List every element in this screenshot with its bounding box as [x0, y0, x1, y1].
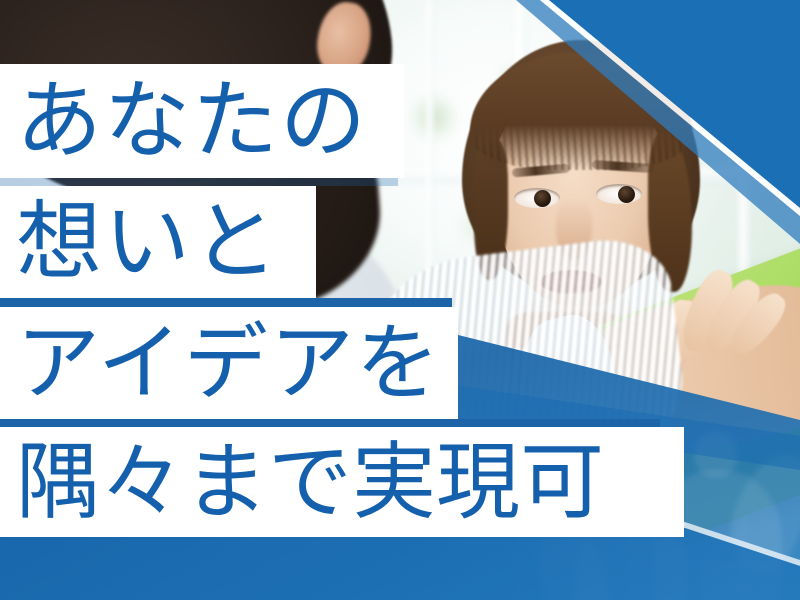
headline-box-4: 隅々まで実現可 [0, 427, 684, 537]
headline-line-2: 想いと [0, 199, 280, 285]
facing-man-eye-right [596, 184, 642, 204]
text-box-separator [0, 419, 660, 427]
headline-box-1: あなたの [0, 64, 404, 178]
text-box-separator [0, 298, 452, 307]
promo-banner: あなたの 想いと アイデアを 隅々まで実現可 [0, 0, 800, 600]
headline-line-1: あなたの [0, 78, 368, 164]
headline-line-4: 隅々まで実現可 [0, 440, 604, 524]
text-box-separator [0, 178, 398, 186]
facing-man-eye-left [514, 188, 560, 208]
headline-box-3: アイデアを [0, 307, 458, 419]
headline-line-3: アイデアを [0, 321, 442, 405]
headline-box-2: 想いと [0, 186, 316, 298]
iris [618, 186, 635, 203]
iris [534, 190, 551, 207]
